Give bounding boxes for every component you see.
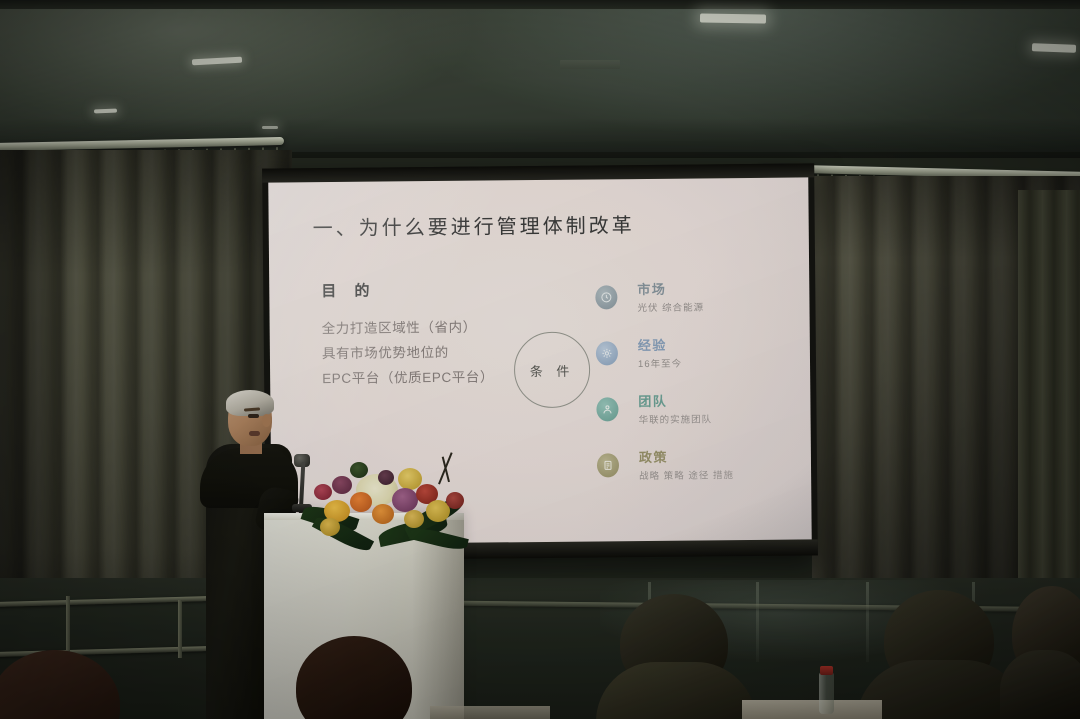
slide-item-subtitle: 战略 策略 途径 措施 <box>639 467 734 482</box>
objective-line: 全力打造区域性（省内） <box>322 314 494 341</box>
presenter-hair <box>226 390 274 416</box>
audience-head <box>1000 650 1080 719</box>
railing-post <box>178 600 182 658</box>
slide-item-title: 团队 <box>638 391 667 410</box>
bottle-cap <box>820 666 833 675</box>
slide-item-subtitle: 光伏 综合能源 <box>637 299 704 314</box>
conference-table <box>742 700 882 719</box>
flower <box>350 492 372 512</box>
ceiling-light <box>700 13 766 23</box>
flower <box>372 504 394 524</box>
slide-item-subtitle: 华联的实施团队 <box>638 411 712 426</box>
presenter-eye <box>248 414 259 418</box>
flower <box>350 462 368 478</box>
objective-heading: 目 的 <box>321 280 376 302</box>
slide-item-title: 政策 <box>639 447 668 466</box>
flower <box>392 488 418 512</box>
wall-panel-line <box>866 582 869 662</box>
presenter-mouth <box>249 431 260 436</box>
slide-item-policy: 政策 战略 策略 途径 措施 <box>597 445 806 503</box>
objective-body: 全力打造区域性（省内） 具有市场优势地位的 EPC平台（优质EPC平台） <box>322 314 495 391</box>
people-icon <box>596 397 618 421</box>
objective-line: 具有市场优势地位的 <box>322 339 494 366</box>
far-right-curtain <box>1018 190 1080 620</box>
slide-item-team: 团队 华联的实施团队 <box>596 389 805 447</box>
flower <box>314 484 332 500</box>
conference-room-photo: 一、为什么要进行管理体制改革 目 的 全力打造区域性（省内） 具有市场优势地位的… <box>0 0 1080 719</box>
water-bottle <box>819 672 834 714</box>
ceiling-light <box>192 57 242 66</box>
ceiling-light <box>94 109 117 114</box>
flower-arrangement <box>306 448 474 568</box>
ceiling-seam <box>0 0 1080 9</box>
ceiling-light <box>1032 43 1076 53</box>
presenter-ear <box>262 414 271 427</box>
flower <box>332 476 352 494</box>
condition-label: 条 件 <box>530 360 575 379</box>
slide-item-subtitle: 16年至今 <box>638 356 682 370</box>
clock-icon <box>595 285 617 309</box>
objective-line: EPC平台（优质EPC平台） <box>322 364 494 391</box>
slide-item-title: 市场 <box>637 279 666 298</box>
railing-post <box>66 596 70 654</box>
condition-circle: 条 件 <box>514 332 591 409</box>
ceiling-vent <box>560 60 620 69</box>
slide-item-title: 经验 <box>638 335 667 354</box>
doc-icon <box>597 453 619 477</box>
slide-item-experience: 经验 16年至今 <box>596 333 805 391</box>
ceiling <box>0 0 1080 152</box>
gear-icon <box>596 341 618 365</box>
slide-title: 一、为什么要进行管理体制改革 <box>313 209 635 241</box>
wall-panel-line <box>756 582 759 662</box>
conference-table <box>430 706 550 719</box>
flower <box>446 492 464 509</box>
flower <box>404 510 424 528</box>
slide-item-market: 市场 光伏 综合能源 <box>595 277 804 335</box>
slide-item-list: 市场 光伏 综合能源 经验 16年至今 <box>595 277 805 503</box>
flower <box>320 518 340 536</box>
flower <box>378 470 394 485</box>
